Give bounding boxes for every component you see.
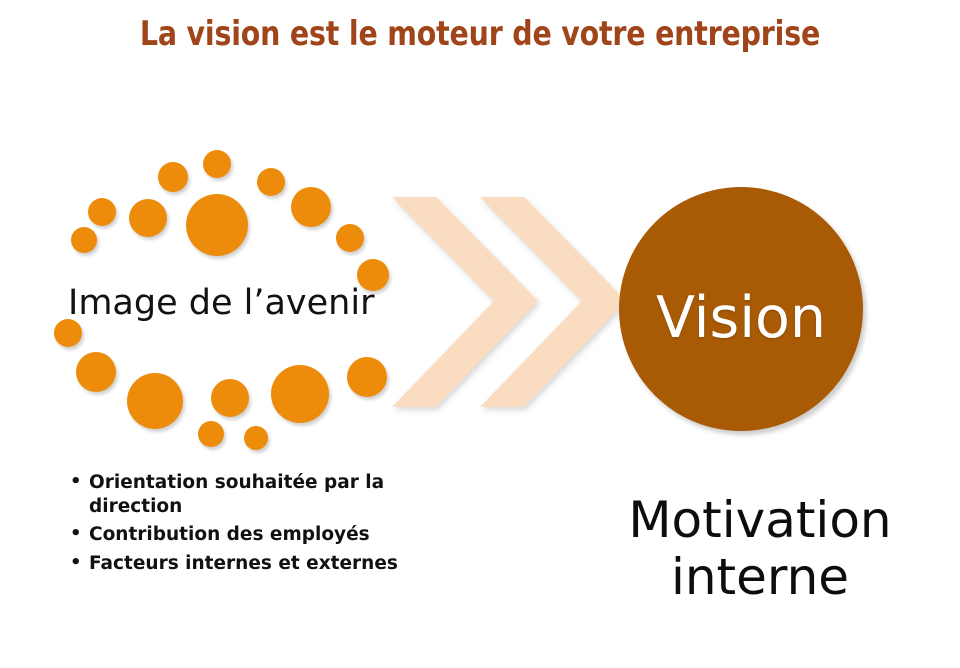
bullet-list-items: • Orientation souhaitée par la direction… <box>70 471 400 576</box>
page-title: La vision est le moteur de votre entrepr… <box>34 16 927 53</box>
cluster-dot <box>186 194 248 256</box>
list-item: • Facteurs internes et externes <box>70 552 400 576</box>
cluster-dot <box>71 227 97 253</box>
cluster-dot <box>211 379 249 417</box>
cluster-dot <box>158 162 188 192</box>
list-item-label: Facteurs internes et externes <box>89 553 398 574</box>
vision-label: Vision <box>656 290 826 347</box>
bullet-icon: • <box>70 470 82 493</box>
motivation-caption: Motivation interne <box>560 492 960 606</box>
cluster-dot <box>54 319 82 347</box>
cluster-dot <box>198 421 224 447</box>
progression-arrows <box>380 185 610 425</box>
vision-circle: Vision <box>619 187 863 431</box>
cluster-dot <box>257 168 285 196</box>
cluster-dot <box>291 187 331 227</box>
list-item: • Contribution des employés <box>70 523 400 547</box>
cluster-dot <box>76 352 116 392</box>
future-image-label: Image de l’avenir <box>68 283 374 323</box>
list-item-label: Orientation souhaitée par la direction <box>89 472 384 517</box>
motivation-caption-line1: Motivation <box>560 492 960 549</box>
cluster-dot <box>88 198 116 226</box>
cluster-dot <box>127 373 183 429</box>
cluster-dot <box>203 150 231 178</box>
cluster-dot <box>271 365 329 423</box>
list-item: • Orientation souhaitée par la direction <box>70 471 400 518</box>
list-item-label: Contribution des employés <box>89 524 370 545</box>
cluster-dot <box>129 199 167 237</box>
cluster-dot <box>244 426 268 450</box>
bullet-icon: • <box>70 522 82 545</box>
bullet-list: • Orientation souhaitée par la direction… <box>70 471 400 581</box>
motivation-caption-line2: interne <box>560 549 960 606</box>
slide-canvas: La vision est le moteur de votre entrepr… <box>0 0 960 668</box>
bullet-icon: • <box>70 551 82 574</box>
cluster-dot <box>336 224 364 252</box>
